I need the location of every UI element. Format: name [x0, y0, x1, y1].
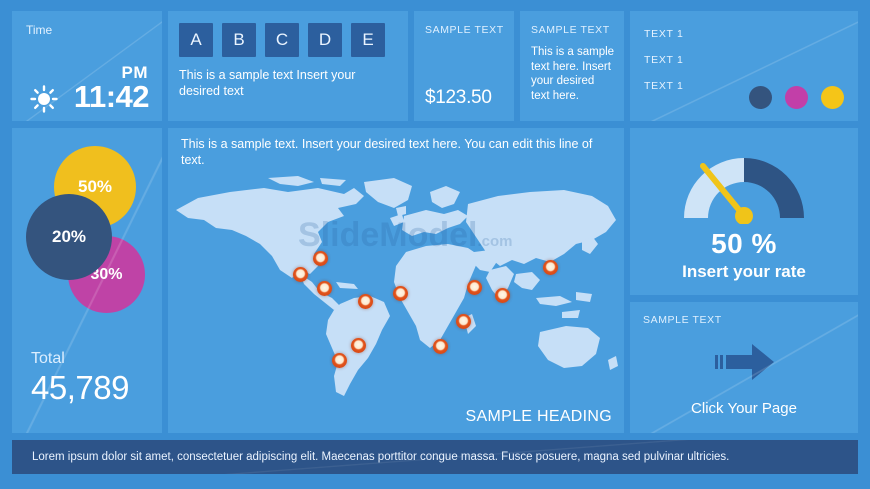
letter-tile-d[interactable]: D [308, 23, 342, 57]
watermark: SlideModel.com [298, 216, 512, 255]
gauge-graphic [678, 140, 810, 224]
legend-widget: TEXT 1 TEXT 1 TEXT 1 [630, 11, 858, 121]
map-marker-us-east[interactable] [313, 251, 328, 266]
note-widget: SAMPLE TEXT This is a sample text here. … [520, 11, 624, 121]
map-area[interactable]: SlideModel.com SAMPLE HEADING [168, 170, 624, 433]
watermark-suffix: .com [477, 233, 512, 250]
time-value: 11:42 [74, 81, 149, 112]
map-marker-mexico[interactable] [317, 281, 332, 296]
time-label: Time [26, 23, 52, 37]
map-marker-us-south[interactable] [293, 267, 308, 282]
letter-tiles-description: This is a sample text Insert your desire… [179, 67, 397, 99]
map-marker-india-west[interactable] [467, 280, 482, 295]
world-map-graphic [168, 170, 624, 433]
bubble-20[interactable]: 20% [26, 194, 112, 280]
map-header-text: This is a sample text. Insert your desir… [181, 137, 601, 168]
legend-dot-magenta[interactable] [785, 86, 808, 109]
sun-icon [30, 85, 58, 113]
watermark-text: SlideModel [298, 216, 477, 254]
legend-dot-yellow[interactable] [821, 86, 844, 109]
note-title: SAMPLE TEXT [531, 24, 610, 36]
legend-dots [749, 86, 844, 109]
time-widget: Time PM 11:42 [12, 11, 162, 121]
legend-row-1: TEXT 1 [644, 28, 684, 40]
map-marker-patagonia[interactable] [332, 353, 347, 368]
map-marker-brazil[interactable] [358, 294, 373, 309]
total-value: 45,789 [31, 371, 129, 405]
click-page-title: SAMPLE TEXT [643, 314, 722, 326]
price-widget: SAMPLE TEXT $123.50 [414, 11, 514, 121]
total-label: Total [31, 350, 65, 368]
click-page-widget[interactable]: SAMPLE TEXT Click Your Page [630, 302, 858, 433]
map-heading: SAMPLE HEADING [466, 408, 612, 426]
map-marker-china-east[interactable] [543, 260, 558, 275]
dashboard-slide: Time PM 11:42 A B C D E This is a s [0, 0, 870, 489]
letter-tiles-row: A B C D E [179, 23, 385, 57]
map-marker-india-east[interactable] [495, 288, 510, 303]
letter-tile-b[interactable]: B [222, 23, 256, 57]
letter-tile-e[interactable]: E [351, 23, 385, 57]
map-marker-atlantic[interactable] [393, 286, 408, 301]
click-page-caption: Click Your Page [630, 400, 858, 417]
letter-tile-a[interactable]: A [179, 23, 213, 57]
letter-tile-c[interactable]: C [265, 23, 299, 57]
note-text: This is a sample text here. Insert your … [531, 45, 615, 103]
map-marker-south-africa[interactable] [433, 339, 448, 354]
legend-list: TEXT 1 TEXT 1 TEXT 1 [644, 28, 684, 106]
gauge-caption: Insert your rate [630, 262, 858, 282]
legend-row-3: TEXT 1 [644, 80, 684, 92]
legend-dot-navy[interactable] [749, 86, 772, 109]
footer-bar: Lorem ipsum dolor sit amet, consectetuer… [12, 440, 858, 474]
footer-text: Lorem ipsum dolor sit amet, consectetuer… [32, 440, 729, 474]
bubble-chart: 50% 30% 20% [12, 146, 162, 336]
letter-tiles-widget: A B C D E This is a sample text Insert y… [168, 11, 408, 121]
gauge-widget: 50 % Insert your rate [630, 128, 858, 295]
price-title: SAMPLE TEXT [425, 24, 504, 36]
map-marker-madagascar[interactable] [456, 314, 471, 329]
map-marker-argentina[interactable] [351, 338, 366, 353]
world-map-widget: This is a sample text. Insert your desir… [168, 128, 624, 433]
legend-row-2: TEXT 1 [644, 54, 684, 66]
gauge-arc-right [744, 158, 804, 218]
price-value: $123.50 [425, 87, 492, 109]
arrow-right-icon[interactable] [714, 342, 776, 382]
bubble-chart-widget: 50% 30% 20% Total 45,789 [12, 128, 162, 433]
gauge-value: 50 % [630, 228, 858, 260]
